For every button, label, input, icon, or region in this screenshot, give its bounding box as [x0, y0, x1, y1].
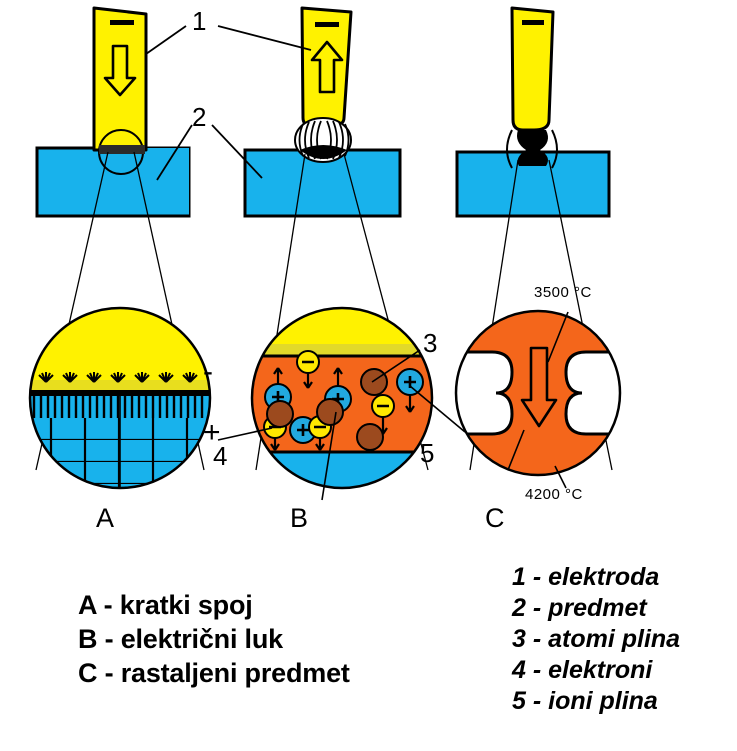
legend-part-row: 2 - predmet — [512, 593, 680, 624]
electrode-c — [512, 8, 553, 130]
ion-particle — [397, 369, 423, 395]
column-caption-c: C — [485, 505, 505, 532]
detail-circle-c — [450, 305, 630, 490]
temperature-label-bottom: 4200 °C — [525, 487, 583, 502]
column-caption-a: A — [96, 505, 114, 532]
electron-particle — [297, 351, 319, 373]
column-caption-b: B — [290, 505, 308, 532]
legend-stage-row: A - kratki spoj — [78, 588, 350, 622]
detail-circle-a — [30, 308, 210, 496]
legend-part-row: 3 - atomi plina — [512, 624, 680, 655]
temperature-label-top: 3500 °C — [534, 285, 592, 300]
polarity-sign-minus-detail-a: - — [203, 357, 213, 387]
workpiece-plate-a — [37, 148, 189, 216]
legend-stage-row: B - električni luk — [78, 622, 350, 656]
arc-column-b — [295, 118, 351, 162]
legend-part-row: 1 - elektroda — [512, 562, 680, 593]
callout-leader-1-left — [146, 26, 186, 54]
legend-stages: A - kratki spoj B - električni luk C - r… — [78, 588, 350, 690]
callout-leader-1-right — [218, 26, 311, 50]
electron-particle — [372, 395, 394, 417]
atom-particle — [267, 401, 293, 427]
legend-part-row: 4 - elektroni — [512, 655, 680, 686]
electrode-b — [302, 8, 351, 126]
callout-number-3: 3 — [423, 330, 437, 356]
callout-number-5: 5 — [420, 440, 434, 466]
callout-number-1: 1 — [192, 8, 206, 34]
polarity-sign-plus-detail-a: + — [203, 418, 221, 448]
atom-particle — [317, 399, 343, 425]
atom-particle — [357, 424, 383, 450]
electrode-a — [94, 8, 146, 150]
atom-particle — [361, 369, 387, 395]
legend-parts: 1 - elektroda 2 - predmet 3 - atomi plin… — [512, 562, 680, 717]
callout-number-2: 2 — [192, 104, 206, 130]
legend-part-row: 5 - ioni plina — [512, 686, 680, 717]
legend-stage-row: C - rastaljeni predmet — [78, 656, 350, 690]
diagram-canvas: 1 2 3 4 5 - + 3500 °C 4200 °C A B C A - … — [0, 0, 737, 751]
